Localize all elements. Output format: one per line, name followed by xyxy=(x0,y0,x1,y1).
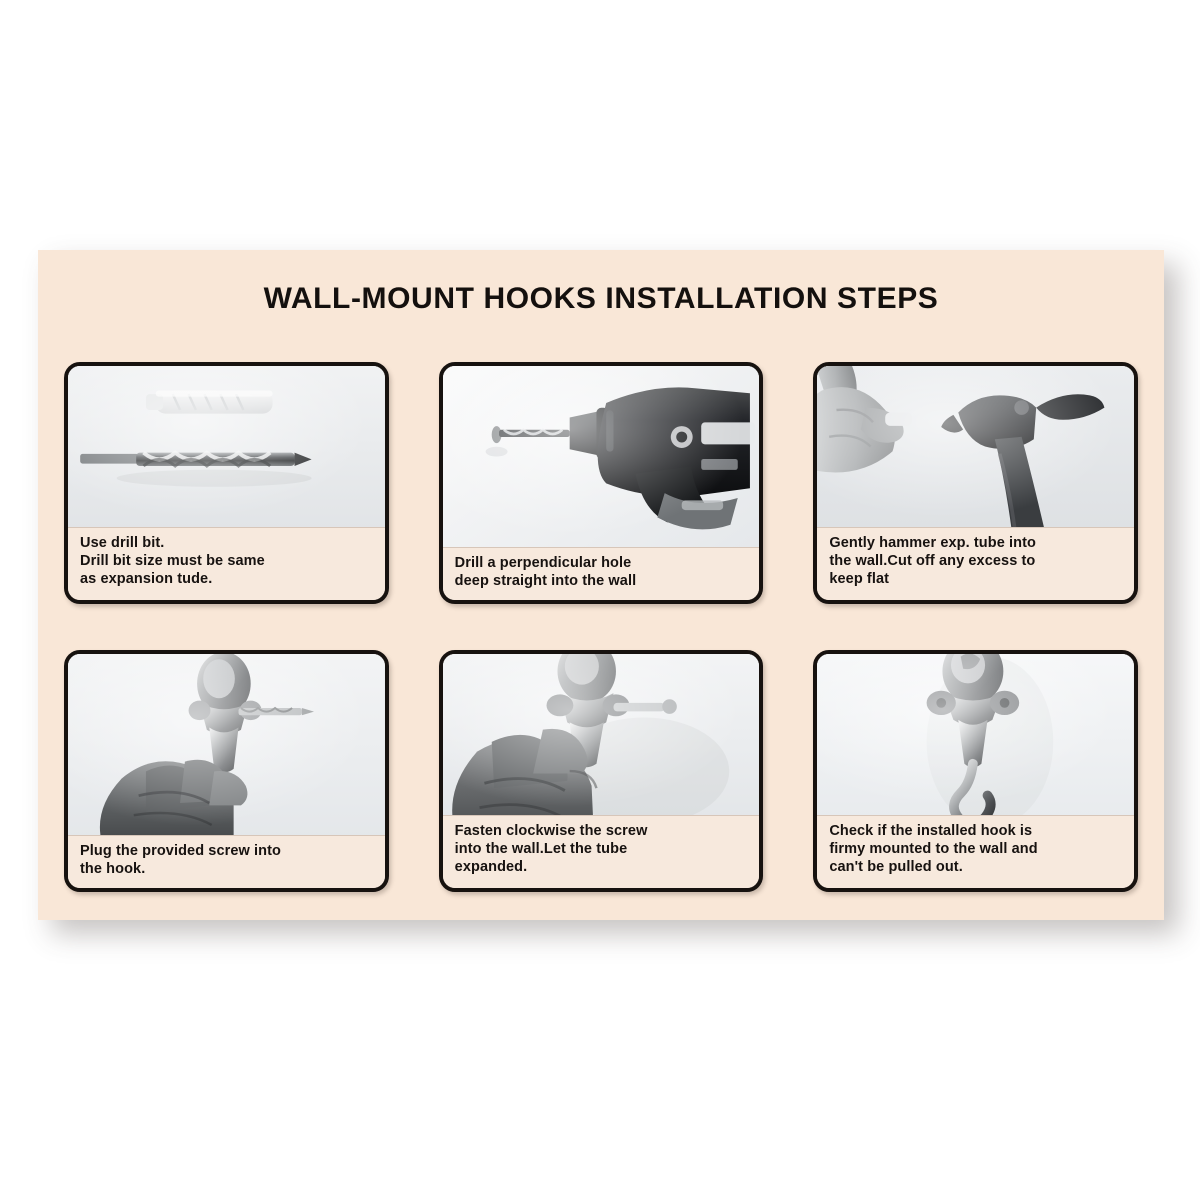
step-caption-6: Check if the installed hook is firmy mou… xyxy=(817,815,1134,888)
steps-grid: Use drill bit. Drill bit size must be sa… xyxy=(64,362,1138,892)
step-caption-1: Use drill bit. Drill bit size must be sa… xyxy=(68,527,385,600)
cordless-drill-illustration xyxy=(443,366,760,547)
step-card-3: Gently hammer exp. tube into the wall.Cu… xyxy=(813,362,1138,604)
drill-bit-and-expansion-tube-photo xyxy=(68,366,385,527)
step-card-6: Check if the installed hook is firmy mou… xyxy=(813,650,1138,892)
cordless-drill-drilling-wall-photo xyxy=(443,366,760,547)
step-card-4: Plug the provided screw into the hook. xyxy=(64,650,389,892)
infographic-stage: WALL-MOUNT HOOKS INSTALLATION STEPS xyxy=(0,0,1200,1200)
hammer-and-hand-illustration xyxy=(817,366,1134,527)
step-card-2: Drill a perpendicular hole deep straight… xyxy=(439,362,764,604)
installed-hook-on-wall-photo xyxy=(817,654,1134,815)
step-caption-2: Drill a perpendicular hole deep straight… xyxy=(443,547,760,600)
step-caption-4: Plug the provided screw into the hook. xyxy=(68,835,385,888)
screw-inserted-into-hook-photo xyxy=(68,654,385,835)
drill-bit-illustration xyxy=(68,366,385,527)
hand-holding-hook-illustration xyxy=(68,654,385,835)
step-card-1: Use drill bit. Drill bit size must be sa… xyxy=(64,362,389,604)
installation-steps-poster: WALL-MOUNT HOOKS INSTALLATION STEPS xyxy=(38,250,1164,920)
page-title: WALL-MOUNT HOOKS INSTALLATION STEPS xyxy=(38,282,1164,316)
fastening-hook-to-wall-photo xyxy=(443,654,760,815)
fastening-hook-illustration xyxy=(443,654,760,815)
hammering-expansion-tube-photo xyxy=(817,366,1134,527)
step-card-5: Fasten clockwise the screw into the wall… xyxy=(439,650,764,892)
installed-hook-illustration xyxy=(817,654,1134,815)
step-caption-5: Fasten clockwise the screw into the wall… xyxy=(443,815,760,888)
step-caption-3: Gently hammer exp. tube into the wall.Cu… xyxy=(817,527,1134,600)
